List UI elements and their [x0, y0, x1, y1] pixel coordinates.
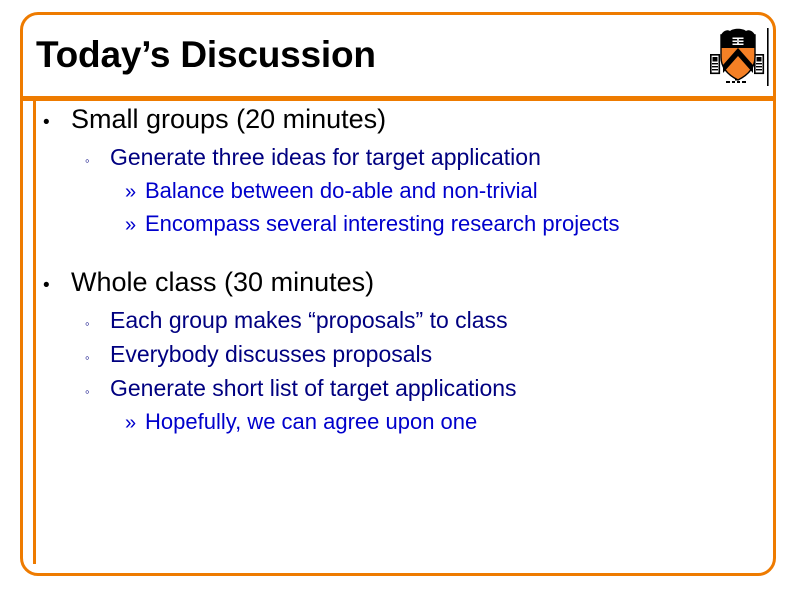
bullet-level2-marker: ◦	[85, 350, 110, 365]
list-item-label: Encompass several interesting research p…	[145, 211, 619, 237]
list-item-label: Generate short list of target applicatio…	[110, 375, 517, 402]
list-item: » Hopefully, we can agree upon one	[125, 409, 756, 442]
slide: Today’s Discussion	[0, 0, 800, 600]
bullet-level2-marker: ◦	[85, 153, 110, 168]
bullet-level1-marker: •	[43, 112, 71, 134]
list-item: • Small groups (20 minutes)	[43, 104, 756, 144]
title-divider	[20, 96, 773, 101]
list-item-label: Hopefully, we can agree upon one	[145, 409, 477, 435]
bullet-level3-marker: »	[125, 412, 145, 435]
list-item: ◦ Generate three ideas for target applic…	[85, 144, 756, 178]
bullet-level2-marker: ◦	[85, 384, 110, 399]
list-item: » Balance between do-able and non-trivia…	[125, 178, 756, 211]
title-bar: Today’s Discussion	[20, 12, 776, 100]
list-item-label: Whole class (30 minutes)	[71, 267, 374, 298]
list-item-label: Balance between do-able and non-trivial	[145, 178, 538, 204]
bullet-level1-marker: •	[43, 275, 71, 297]
group-spacer	[40, 244, 756, 267]
list-item-label: Each group makes “proposals” to class	[110, 307, 508, 334]
princeton-shield-logo	[706, 26, 770, 90]
list-item: ◦ Everybody discusses proposals	[85, 341, 756, 375]
list-item-label: Everybody discusses proposals	[110, 341, 432, 368]
body-left-rule	[33, 101, 36, 564]
list-item-label: Generate three ideas for target applicat…	[110, 144, 541, 171]
list-item-label: Small groups (20 minutes)	[71, 104, 386, 135]
bullet-level3-marker: »	[125, 181, 145, 204]
list-item: ◦ Generate short list of target applicat…	[85, 375, 756, 409]
list-item: • Whole class (30 minutes)	[43, 267, 756, 307]
page-title: Today’s Discussion	[36, 34, 376, 76]
list-item: » Encompass several interesting research…	[125, 211, 756, 244]
bullet-level3-marker: »	[125, 214, 145, 237]
list-item: ◦ Each group makes “proposals” to class	[85, 307, 756, 341]
bullet-level2-marker: ◦	[85, 316, 110, 331]
slide-body: • Small groups (20 minutes) ◦ Generate t…	[40, 104, 756, 442]
